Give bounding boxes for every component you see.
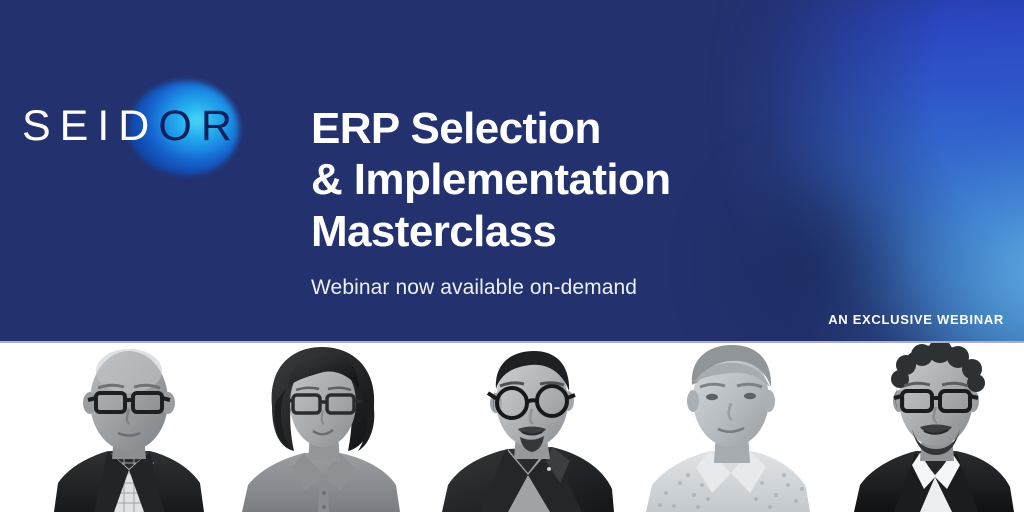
logo-wordmark-dark: OR: [158, 105, 241, 148]
seidor-logo: SEID OR: [22, 78, 262, 174]
headline-line-1: ERP Selection: [311, 103, 951, 154]
subtitle: Webinar now available on-demand: [311, 276, 951, 300]
speaker-photo-5: [846, 343, 1024, 512]
page-title: ERP Selection & Implementation Mastercla…: [311, 103, 951, 257]
status-badge: AN EXCLUSIVE WEBINAR: [828, 312, 1004, 327]
speaker-3-portrait: [436, 343, 622, 512]
logo-wordmark-light: SEID: [22, 105, 158, 148]
speaker-2-portrait: [228, 343, 414, 512]
speaker-1-portrait: [36, 343, 222, 512]
headline-line-2: & Implementation: [311, 154, 951, 205]
speaker-photo-4: [636, 343, 822, 512]
headline-block: ERP Selection & Implementation Mastercla…: [311, 103, 951, 300]
headline-line-3: Masterclass: [311, 206, 951, 257]
speaker-5-portrait: [846, 343, 1024, 512]
logo-wordmark: SEID OR: [22, 78, 262, 174]
speaker-photo-2: [228, 343, 414, 512]
speaker-photo-3: [436, 343, 622, 512]
speaker-photo-1: [36, 343, 222, 512]
speaker-photo-strip: [0, 343, 1024, 512]
speaker-4-portrait: [636, 343, 822, 512]
webinar-promo-banner: SEID OR ERP Selection & Implementation M…: [0, 0, 1024, 512]
